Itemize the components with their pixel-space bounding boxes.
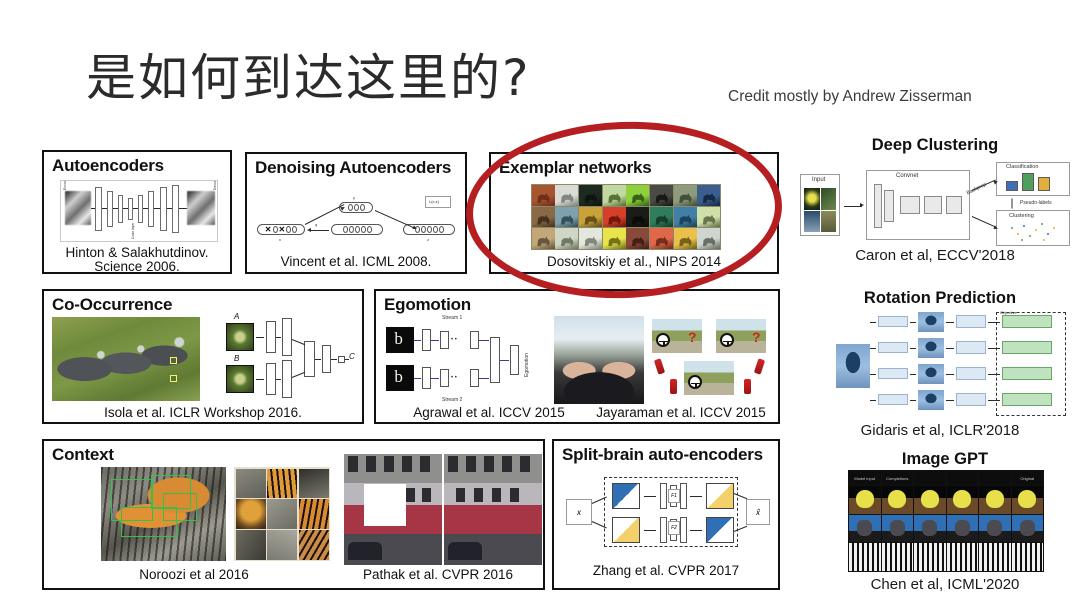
- exemplar-tile: [674, 228, 697, 249]
- exemplar-tile: [603, 228, 626, 249]
- figure-label-c: C: [349, 352, 355, 361]
- figure-label-y: y: [353, 195, 355, 200]
- exemplar-tile: [555, 207, 578, 228]
- jayaraman-figure: ? ?: [650, 315, 774, 405]
- card-title: Egomotion: [384, 295, 471, 315]
- card-autoencoders: Autoencoders Encoder Code layer Decoder …: [42, 150, 232, 274]
- code-layer-label: Code layer: [131, 223, 135, 239]
- card-title: Autoencoders: [52, 156, 164, 176]
- steering-icon: [688, 375, 702, 389]
- rotation-prediction-title: Rotation Prediction: [820, 289, 1060, 308]
- exemplar-tile: [650, 228, 673, 249]
- exemplar-tile: [697, 207, 720, 228]
- card-co-occurrence: Co-Occurrence A B C: [42, 289, 364, 424]
- patch-marker: [170, 357, 177, 364]
- exemplar-tile: [532, 228, 555, 249]
- input-label: Input: [812, 177, 825, 183]
- exemplar-tile: [603, 207, 626, 228]
- figure-label-a: A: [234, 313, 239, 321]
- exemplar-tile: [697, 185, 720, 206]
- figure-label-x: x: [577, 508, 581, 517]
- exemplar-tile: [697, 228, 720, 249]
- figure-label-x: x: [279, 237, 281, 242]
- card-caption: Jayaraman et al. ICCV 2015: [586, 405, 776, 420]
- pseudo-labels-label: Pseudo-labels: [1020, 200, 1052, 206]
- slide-canvas: 是如何到达这里的? Credit mostly by Andrew Zisser…: [0, 0, 1080, 608]
- exemplar-tile: [579, 207, 602, 228]
- card-caption: Pathak et al. CVPR 2016: [334, 567, 542, 582]
- stream2-label: Stream 2: [442, 397, 462, 403]
- encoder-label: Encoder: [63, 180, 67, 190]
- card-caption: Vincent et al. ICML 2008.: [247, 254, 465, 269]
- card-title: Co-Occurrence: [52, 295, 172, 315]
- original-label: Original: [1012, 471, 1044, 485]
- inpainting-input-photo: [344, 454, 442, 565]
- card-caption: Dosovitskiy et al., NIPS 2014: [491, 254, 777, 269]
- exemplar-tile: [626, 185, 649, 206]
- egomotion-axis-label: Egomotion: [524, 353, 530, 377]
- steering-wheel-photo: [554, 316, 644, 404]
- exemplar-tile: [555, 185, 578, 206]
- jigsaw-patch-grid: [234, 467, 330, 561]
- exemplar-tile: [626, 207, 649, 228]
- figure-label-q: q: [315, 222, 317, 227]
- exemplar-tile: [532, 207, 555, 228]
- exemplar-tile: [650, 185, 673, 206]
- denoising-autoencoder-diagram: ✕ ✕ x y z: [253, 184, 465, 246]
- deep-clustering-figure: Input Convnet Classification Clustering: [800, 162, 1072, 248]
- exemplar-tile: [532, 185, 555, 206]
- autoencoder-diagram: Encoder Code layer Decoder: [60, 180, 218, 242]
- co-occurrence-network: A B C: [204, 313, 360, 405]
- patch-marker: [170, 375, 177, 382]
- card-title: Exemplar networks: [499, 158, 652, 178]
- credit-line: Credit mostly by Andrew Zisserman: [728, 88, 972, 106]
- deep-clustering-title: Deep Clustering: [820, 136, 1050, 155]
- figure-label-f1: F1: [671, 493, 677, 499]
- stream1-label: Stream 1: [442, 315, 462, 321]
- figure-label-b: B: [234, 354, 239, 363]
- caption-text: Vincent et al. ICML 2008.: [281, 254, 432, 269]
- clustering-scatter: Clustering: [996, 210, 1070, 246]
- card-egomotion: Egomotion Stream 1 Stream 2 Egomotion • …: [374, 289, 780, 424]
- exemplar-tile: [579, 228, 602, 249]
- question-mark: ?: [752, 329, 761, 345]
- clustering-label: Clustering: [1009, 213, 1034, 219]
- rotation-prediction-caption: Gidaris et al, ICLR'2018: [820, 422, 1060, 439]
- deep-clustering-caption: Caron et al, ECCV'2018: [820, 247, 1050, 264]
- exemplar-tile: [555, 228, 578, 249]
- rotation-prediction-figure: Objective: [836, 310, 1068, 418]
- guinea-fowl-photo: [52, 317, 200, 401]
- steering-icon: [720, 333, 734, 347]
- inpainting-result-photo: [444, 454, 542, 565]
- card-split-brain-auto-encoders: Split-brain auto-encoders x F1 F2 x̂: [552, 439, 780, 590]
- card-caption: Isola et al. ICLR Workshop 2016.: [44, 405, 362, 420]
- card-title: Denoising Autoencoders: [255, 158, 451, 178]
- card-caption: Noroozi et al 2016: [94, 567, 294, 582]
- convnet-label: Convnet: [896, 173, 918, 179]
- figure-label-f2: F2: [671, 525, 677, 531]
- exemplar-tile: [650, 207, 673, 228]
- card-caption: Zhang et al. CVPR 2017: [554, 563, 778, 578]
- exemplar-tile: [579, 185, 602, 206]
- card-caption: Hinton & Salakhutdinov.: [44, 245, 230, 260]
- decoder-label: Decoder: [213, 180, 217, 190]
- exemplar-tile: [603, 185, 626, 206]
- card-caption: Agrawal et al. ICCV 2015: [384, 405, 594, 420]
- steering-icon: [656, 333, 670, 347]
- image-gpt-grid: Model input Completions Original: [848, 470, 1044, 572]
- model-input-label: Model input: [849, 471, 881, 485]
- split-brain-diagram: x F1 F2 x̂: [564, 473, 772, 549]
- card-title: Context: [52, 445, 114, 465]
- exemplar-tile: [626, 228, 649, 249]
- image-gpt-title: Image GPT: [830, 450, 1060, 469]
- card-context: Context: [42, 439, 545, 590]
- exemplar-tile: [674, 207, 697, 228]
- page-title: 是如何到达这里的?: [86, 52, 531, 105]
- image-gpt-caption: Chen et al, ICML'2020: [830, 576, 1060, 593]
- card-title: Split-brain auto-encoders: [562, 445, 763, 465]
- question-mark: ?: [688, 329, 697, 345]
- card-denoising-autoencoders: Denoising Autoencoders ✕ ✕: [245, 152, 467, 274]
- classification-label: Classification: [1006, 164, 1038, 170]
- card-exemplar-networks: Exemplar networks Dosovitskiy et al., NI…: [489, 152, 779, 274]
- completions-label: Completions: [882, 471, 914, 485]
- exemplar-tile: [674, 185, 697, 206]
- masked-region: [364, 484, 406, 526]
- exemplar-image-grid: [531, 184, 721, 250]
- figure-label-z: z: [427, 237, 429, 242]
- card-caption: Science 2006.: [44, 259, 230, 274]
- figure-label-loss: L(x,z): [429, 199, 439, 204]
- tiger-photo: [101, 467, 226, 561]
- egomotion-network: Stream 1 Stream 2 Egomotion • • • •: [384, 315, 546, 405]
